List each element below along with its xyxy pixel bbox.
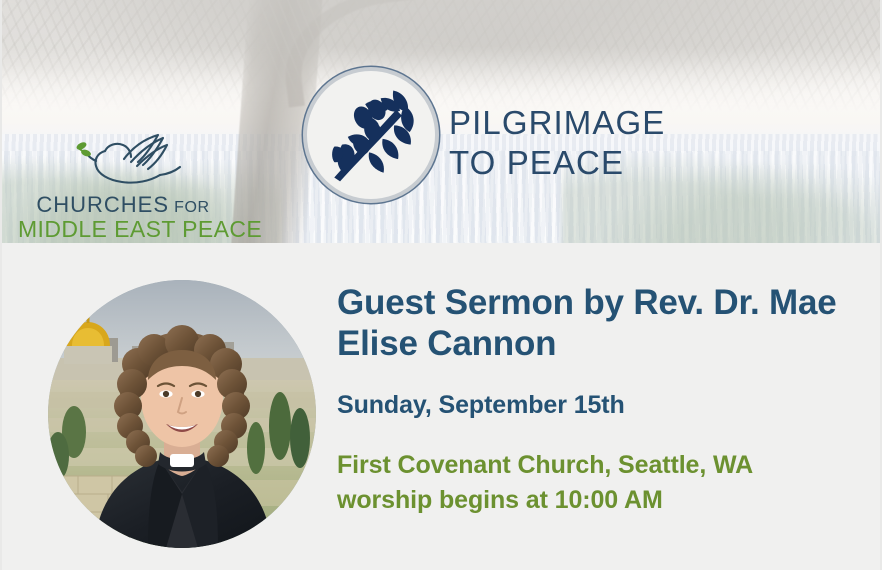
- cmep-for-word: FOR: [169, 199, 210, 216]
- program-title-line1: PILGRIMAGE: [449, 104, 665, 141]
- pilgrimage-badge: [303, 67, 439, 203]
- event-venue-line1: First Covenant Church, Seattle, WA: [337, 451, 753, 479]
- page-title: Guest Sermon by Rev. Dr. Mae Elise Canno…: [337, 282, 857, 364]
- event-poster: CHURCHES FOR MIDDLE EAST PEACE: [0, 0, 882, 570]
- cmep-logo-line1: CHURCHES FOR: [18, 192, 228, 218]
- event-date: Sunday, September 15th: [337, 364, 857, 420]
- speaker-portrait-avatar: [48, 280, 316, 548]
- cmep-logo-line2: MIDDLE EAST PEACE: [18, 216, 228, 243]
- event-details: Guest Sermon by Rev. Dr. Mae Elise Canno…: [337, 282, 857, 518]
- cmep-logo: CHURCHES FOR MIDDLE EAST PEACE: [18, 128, 228, 240]
- program-title: PILGRIMAGE TO PEACE: [449, 103, 665, 183]
- header-banner: CHURCHES FOR MIDDLE EAST PEACE: [2, 0, 882, 243]
- program-title-line2: TO PEACE: [449, 143, 665, 183]
- event-venue-line2: worship begins at 10:00 AM: [337, 483, 857, 518]
- cmep-churches-word: CHURCHES: [36, 192, 169, 217]
- dove-with-olive-branch-icon: [74, 128, 184, 194]
- olive-branch-icon: [313, 77, 429, 193]
- event-venue: First Covenant Church, Seattle, WA worsh…: [337, 420, 857, 518]
